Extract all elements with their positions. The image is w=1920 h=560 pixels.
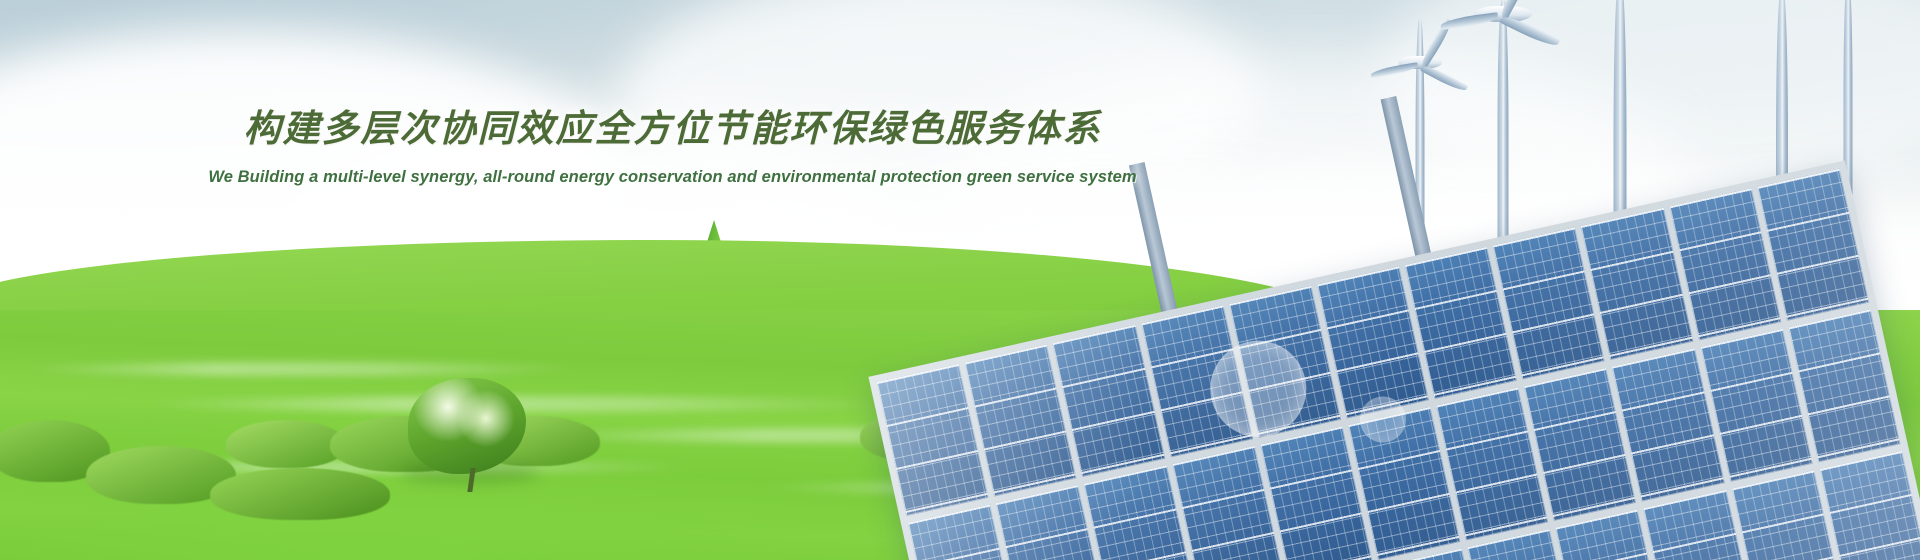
bush — [210, 468, 390, 520]
solar-cell-column — [1820, 451, 1920, 560]
bush — [226, 420, 346, 468]
mow-stripe — [20, 362, 580, 376]
banner-headline: 构建多层次协同效应全方位节能环保绿色服务体系 — [0, 98, 1345, 152]
banner-copy: 构建多层次协同效应全方位节能环保绿色服务体系 We Building a mul… — [0, 98, 1345, 187]
tree-canopy — [408, 378, 526, 474]
lone-flowering-tree — [408, 378, 526, 474]
hero-banner: 构建多层次协同效应全方位节能环保绿色服务体系 We Building a mul… — [0, 0, 1920, 560]
banner-subtitle: We Building a multi-level synergy, all-r… — [0, 168, 1345, 187]
